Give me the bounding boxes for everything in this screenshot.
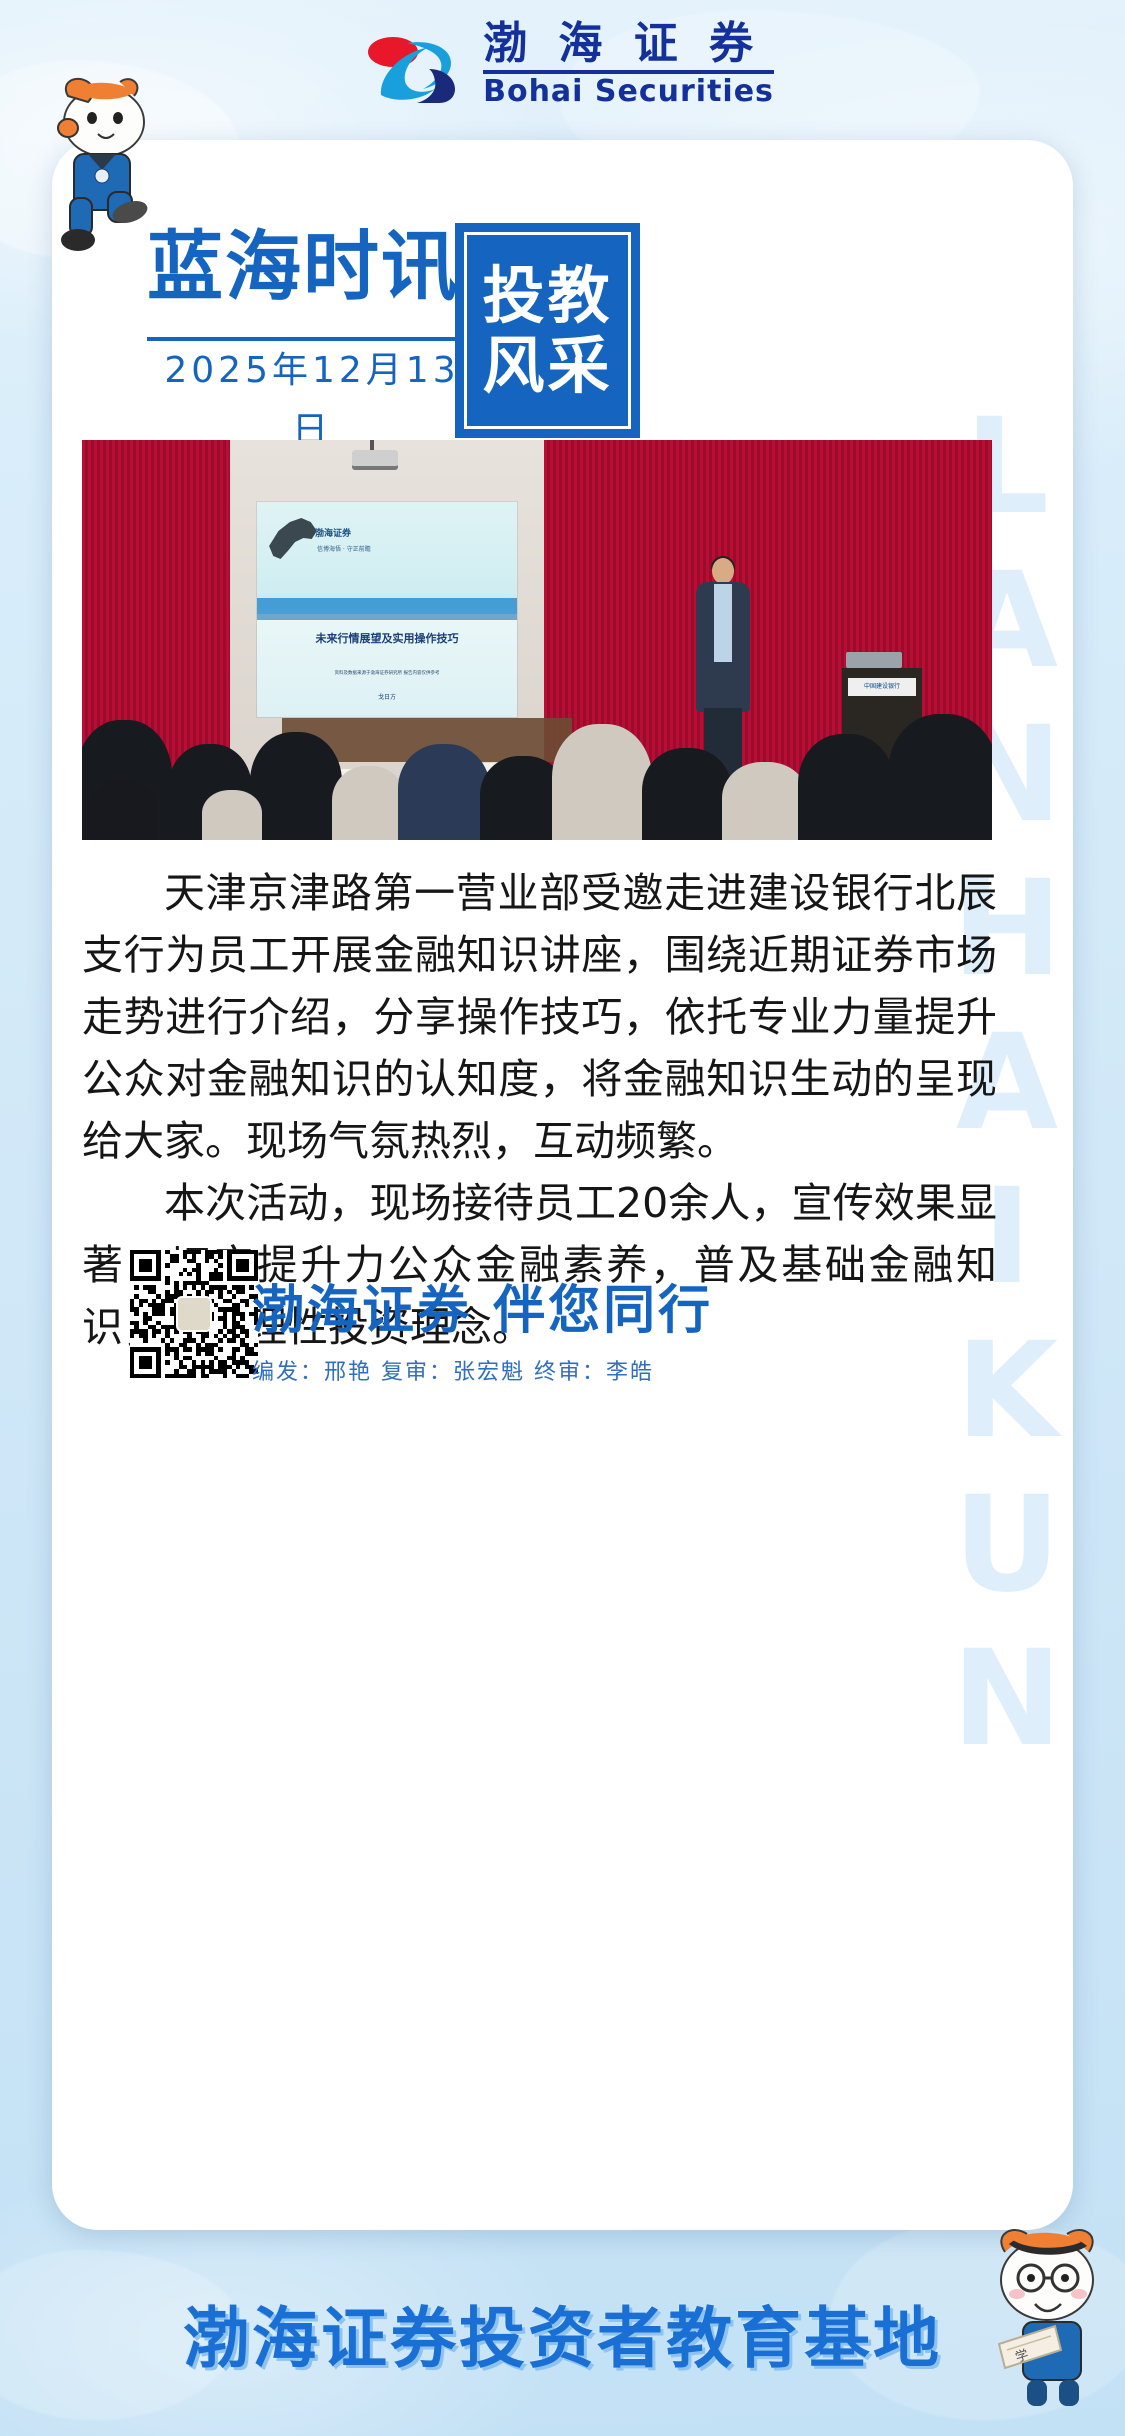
brand-wordmark: 渤 海 证 券 Bohai Securities xyxy=(483,20,774,109)
bohai-swoosh-logo-icon xyxy=(351,25,469,103)
laptop-icon xyxy=(846,652,902,668)
brand-name-cn: 渤 海 证 券 xyxy=(483,20,774,68)
slide-band xyxy=(257,598,517,614)
page-title: 蓝海时讯 xyxy=(147,225,477,309)
slide-author: 戈日方 xyxy=(257,692,517,701)
projector-icon xyxy=(352,450,398,470)
qr-center-logo xyxy=(176,1296,212,1332)
audience-head xyxy=(798,734,894,840)
category-badge: 投教 风采 xyxy=(455,223,640,438)
brand-header: 渤 海 证 券 Bohai Securities xyxy=(0,18,1125,110)
footer-banner: 渤海证券投资者教育基地 xyxy=(0,2230,1125,2436)
audience-head xyxy=(888,714,992,840)
audience-head xyxy=(552,724,652,840)
slide-meta: 资料及数据来源于渤海证券研究所 报告内容仅供参考 xyxy=(257,670,517,677)
badge-line-2: 风采 xyxy=(482,331,612,401)
footer-title: 渤海证券投资者教育基地 xyxy=(183,2285,942,2381)
event-photo: 渤海证券 信博海悟 · 守正前瞻 未来行情展望及实用操作技巧 资料及数据来源于渤… xyxy=(82,440,992,840)
content-card: LANHAIKUN 蓝海时讯 2025年12月13日 第1259期 投教 风采 xyxy=(52,140,1073,2230)
brand-divider xyxy=(483,70,774,74)
presentation-slide: 渤海证券 信博海悟 · 守正前瞻 未来行情展望及实用操作技巧 资料及数据来源于渤… xyxy=(257,502,517,717)
whale-icon xyxy=(267,516,319,566)
audience-head xyxy=(88,780,158,840)
credits-line: 编发：邢艳 复审：张宏魁 终审：李皓 xyxy=(252,1354,952,1386)
slide-headline: 未来行情展望及实用操作技巧 xyxy=(257,630,517,646)
speaker-shirt xyxy=(714,584,732,662)
audience-head xyxy=(202,790,262,840)
audience-head xyxy=(642,748,732,840)
speaker-head xyxy=(712,558,734,584)
category-badge-inner: 投教 风采 xyxy=(464,232,631,429)
podium-label: 中国建设银行 xyxy=(848,678,916,696)
slide-subtitle: 信博海悟 · 守正前瞻 xyxy=(317,544,371,553)
audience-head xyxy=(250,732,342,840)
slide-brand: 渤海证券 xyxy=(315,526,351,539)
poster-page: 渤 海 证 券 Bohai Securities LANHAIKUN 蓝海时讯 … xyxy=(0,0,1125,2436)
mascot-cow-top-icon xyxy=(42,72,162,252)
slide-band-2 xyxy=(257,614,517,620)
brand-name-en: Bohai Securities xyxy=(483,75,774,109)
audience-head xyxy=(332,766,406,840)
badge-line-1: 投教 xyxy=(482,261,612,331)
audience-head xyxy=(722,762,808,840)
audience-head xyxy=(398,744,490,840)
article-paragraph: 天津京津路第一营业部受邀走进建设银行北辰支行为员工开展金融知识讲座，围绕近期证券… xyxy=(82,862,997,1172)
slogan: 渤海证券 伴您同行 xyxy=(252,1268,952,1343)
qr-code[interactable] xyxy=(130,1250,258,1378)
